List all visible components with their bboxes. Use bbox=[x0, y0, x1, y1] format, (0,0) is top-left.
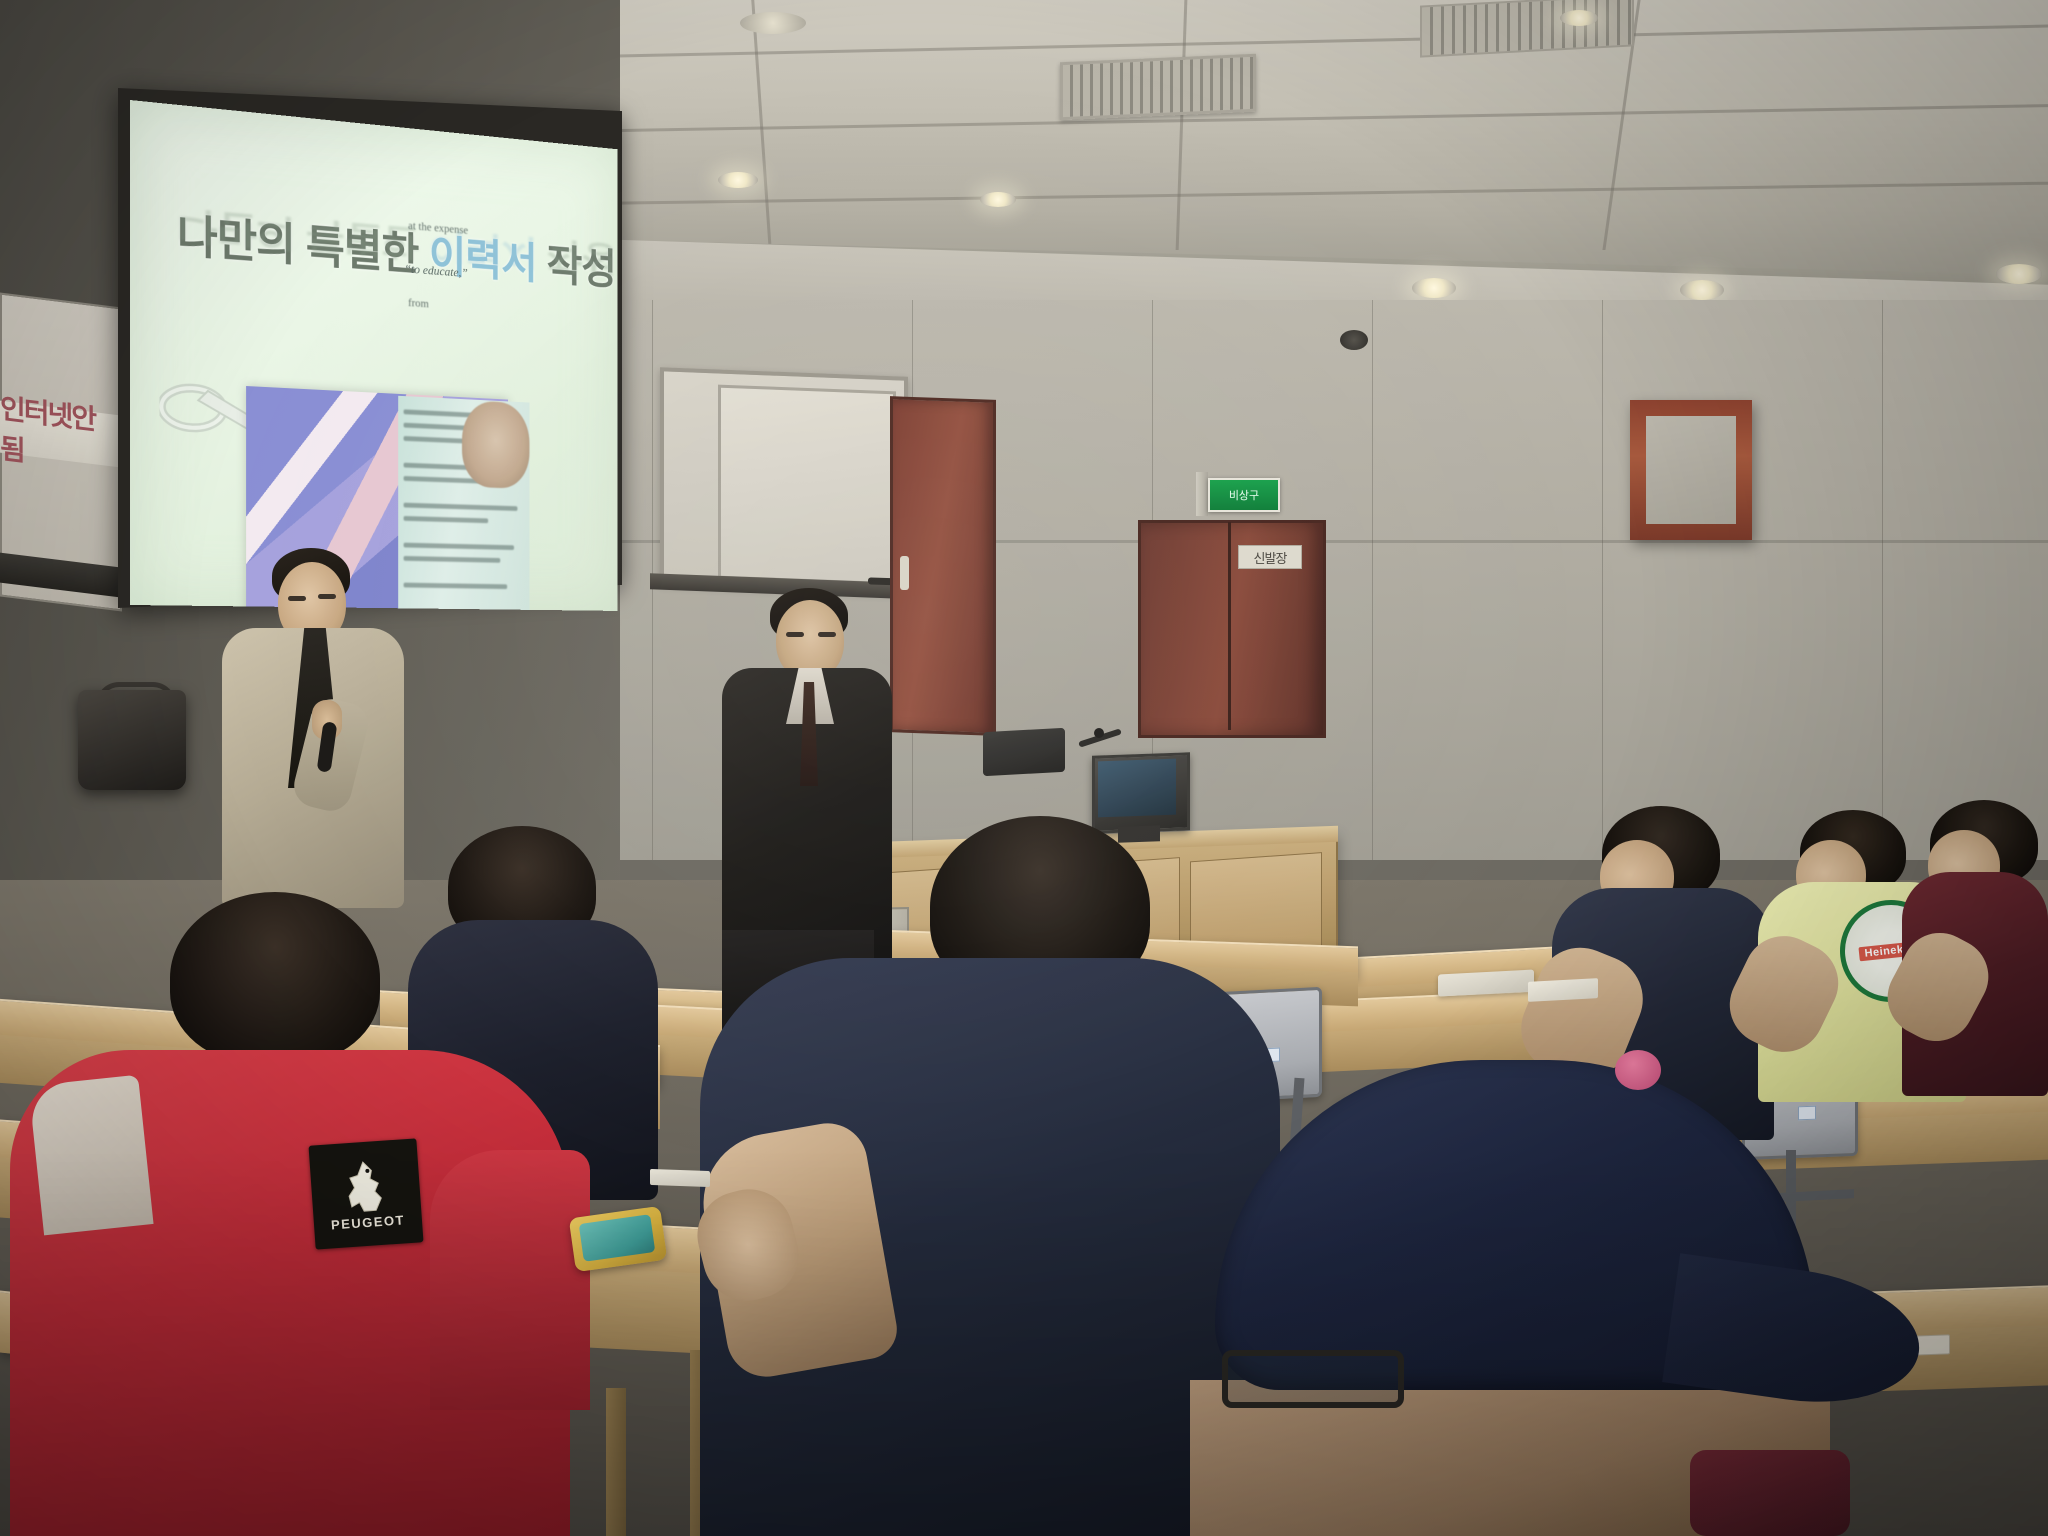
eye bbox=[288, 596, 306, 601]
peugeot-lion-icon bbox=[333, 1156, 399, 1216]
downlight-icon bbox=[1412, 278, 1456, 298]
downlight-icon bbox=[1680, 280, 1724, 300]
peugeot-badge: PEUGEOT bbox=[309, 1138, 424, 1249]
hair bbox=[170, 892, 380, 1064]
wall-artwork-frame bbox=[1630, 400, 1752, 540]
chair-tag bbox=[1798, 1106, 1816, 1121]
monitor-stand bbox=[1118, 825, 1160, 842]
laptop-bag[interactable] bbox=[78, 690, 186, 790]
undershirt bbox=[28, 1075, 153, 1236]
downlight-icon bbox=[980, 192, 1016, 207]
paper-sheet[interactable] bbox=[650, 1169, 710, 1187]
ceiling-speaker-icon bbox=[740, 12, 806, 34]
eyeglasses bbox=[1222, 1350, 1404, 1408]
exit-sign: 비상구 bbox=[1208, 478, 1280, 512]
wall-artwork-inner bbox=[1646, 416, 1736, 524]
no-internet-sign: 인터넷안됨 bbox=[0, 401, 120, 468]
door-seam bbox=[1228, 522, 1231, 730]
projection-screen[interactable]: 나만의 특별한 이력서 작성법 나만의 특별한 이력서 작성법 at the e… bbox=[130, 100, 618, 611]
ceiling-vent-icon bbox=[1420, 0, 1634, 58]
podium-device bbox=[983, 728, 1065, 776]
slide-portrait-photo bbox=[462, 400, 529, 489]
downlight-icon bbox=[1996, 264, 2042, 284]
cap-button bbox=[1615, 1050, 1661, 1090]
ceiling-vent-icon bbox=[1060, 54, 1256, 121]
shoulder bbox=[430, 1150, 590, 1410]
eye bbox=[318, 594, 336, 599]
security-camera-icon bbox=[1340, 330, 1368, 350]
microphone-head-icon bbox=[1094, 728, 1104, 738]
eye bbox=[818, 632, 836, 637]
downlight-icon bbox=[718, 172, 758, 188]
desk-leg bbox=[606, 1388, 626, 1536]
cap-logo-patch bbox=[1690, 1450, 1850, 1536]
monitor-screen bbox=[1098, 759, 1176, 818]
exit-sign-bracket bbox=[1196, 472, 1208, 516]
paper-sheet[interactable] bbox=[1528, 978, 1598, 1002]
eye bbox=[786, 632, 804, 637]
downlight-icon bbox=[1560, 10, 1598, 26]
whiteboard-inner bbox=[718, 385, 896, 586]
shoe-cabinet-sign: 신발장 bbox=[1238, 545, 1302, 569]
slide-text-fragment-bottom: from bbox=[408, 295, 429, 311]
door-handle-icon[interactable] bbox=[900, 556, 909, 590]
photo-scene: 인터넷안됨 나만의 특별한 이력서 작성법 나만의 특별한 이력서 작성법 at… bbox=[0, 0, 2048, 1536]
